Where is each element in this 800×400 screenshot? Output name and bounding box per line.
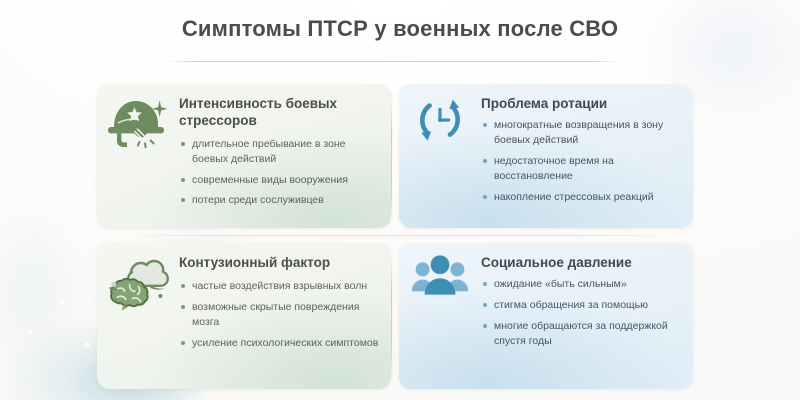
list-item: современные виды вооружения <box>179 173 381 188</box>
slide-root: Симптомы ПТСР у военных после СВО <box>0 0 800 400</box>
card-rotation-problem[interactable]: Проблема ротации многократные возвращени… <box>399 84 693 228</box>
card-bullet-list: многократные возвращения в зону боевых д… <box>481 118 683 205</box>
row-divider <box>120 235 680 236</box>
card-text-container: Контузионный фактор частые воздействия в… <box>179 243 391 359</box>
card-social-pressure[interactable]: Социальное давление ожидание «быть сильн… <box>399 243 693 389</box>
military-helmet-icon <box>107 94 169 152</box>
list-item: многие обращаются за поддержкой спустя г… <box>481 319 683 349</box>
frost-speck <box>28 330 32 334</box>
card-icon-container <box>97 84 179 152</box>
frost-speck <box>84 342 90 348</box>
card-text-container: Проблема ротации многократные возвращени… <box>481 84 693 212</box>
brain-explosion-icon <box>105 255 171 317</box>
list-item: ожидание «быть сильным» <box>481 277 683 292</box>
card-text-container: Интенсивность боевых стрессоров длительн… <box>179 84 391 216</box>
list-item: многократные возвращения в зону боевых д… <box>481 118 683 148</box>
card-bullet-list: длительное пребывание в зоне боевых дейс… <box>179 137 381 209</box>
frost-speck <box>60 299 65 304</box>
list-item: недостаточное время на восстановление <box>481 154 683 184</box>
card-heading: Социальное давление <box>481 255 683 272</box>
card-heading: Контузионный фактор <box>179 255 381 272</box>
list-item: накопление стрессовых реакций <box>481 190 683 205</box>
column-divider-top <box>391 100 392 220</box>
list-item: усиление психологических симптомов <box>179 336 381 351</box>
card-intensity-of-combat-stressors[interactable]: Интенсивность боевых стрессоров длительн… <box>97 84 391 228</box>
card-concussion-factor[interactable]: Контузионный фактор частые воздействия в… <box>97 243 391 389</box>
list-item: длительное пребывание в зоне боевых дейс… <box>179 137 381 167</box>
list-item: возможные скрытые повреждения мозга <box>179 300 381 330</box>
list-item: частые воздействия взрывных волн <box>179 279 381 294</box>
card-bullet-list: ожидание «быть сильным» стигма обращения… <box>481 277 683 349</box>
card-heading: Проблема ротации <box>481 96 683 113</box>
card-text-container: Социальное давление ожидание «быть сильн… <box>481 243 693 357</box>
card-icon-container <box>399 84 481 146</box>
list-item: потери среди сослуживцев <box>179 193 381 208</box>
title-divider <box>168 61 618 62</box>
card-bullet-list: частые воздействия взрывных волн возможн… <box>179 279 381 351</box>
page-title: Симптомы ПТСР у военных после СВО <box>0 16 800 42</box>
card-icon-container <box>97 243 179 317</box>
people-group-icon <box>411 253 469 299</box>
slide-title-container: Симптомы ПТСР у военных после СВО <box>0 16 800 42</box>
column-divider-bottom <box>391 258 392 378</box>
card-heading: Интенсивность боевых стрессоров <box>179 96 381 130</box>
clock-rotation-icon <box>412 94 468 146</box>
list-item: стигма обращения за помощью <box>481 298 683 313</box>
card-icon-container <box>399 243 481 299</box>
